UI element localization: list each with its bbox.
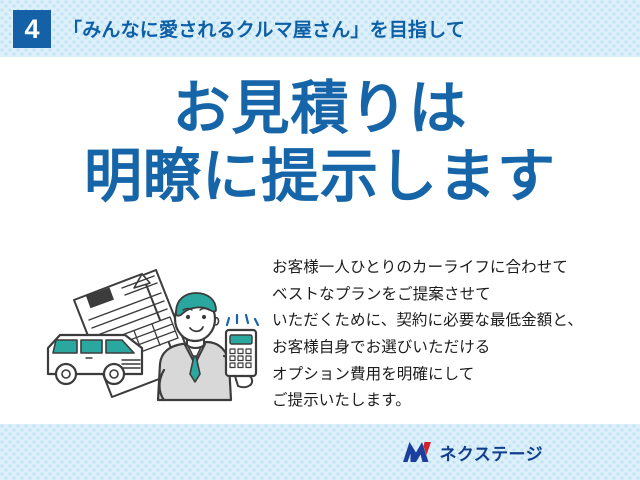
body-line-3: いただくために、契約に必要な最低金額と、 <box>272 308 632 335</box>
nextage-n-mark-icon <box>402 441 432 463</box>
sparkle-lines <box>227 315 258 325</box>
header-title: 「みんなに愛されるクルマ屋さん」を目指して <box>63 15 640 42</box>
body-copy: お客様一人ひとりのカーライフに合わせて ベストなプランをご提案させて いただくた… <box>272 255 632 415</box>
brand-logo-text: ネクステージ <box>439 440 543 465</box>
headline-line-1: お見積りは <box>0 78 640 140</box>
headline: お見積りは 明瞭に提示します <box>0 78 640 208</box>
headline-line-2: 明瞭に提示します <box>0 146 640 208</box>
section-number-badge: 4 <box>13 10 51 48</box>
body-line-4: お客様自身でお選びいただける <box>272 335 632 362</box>
salesman-figure <box>158 293 258 400</box>
body-line-2: ベストなプランをご提案させて <box>272 282 632 309</box>
body-line-1: お客様一人ひとりのカーライフに合わせて <box>272 255 632 282</box>
illustration-svg <box>30 252 280 417</box>
body-line-6: ご提示いたします。 <box>272 388 632 415</box>
header-bar: 4 「みんなに愛されるクルマ屋さん」を目指して <box>0 0 640 57</box>
illustration-salesman-estimate <box>30 252 280 417</box>
calculator-icon <box>226 330 256 376</box>
promo-poster: 4 「みんなに愛されるクルマ屋さん」を目指して お見積りは 明瞭に提示します <box>0 0 640 480</box>
footer-bar: ネクステージ <box>0 424 640 480</box>
brand-logo: ネクステージ <box>402 440 543 465</box>
body-line-5: オプション費用を明確にして <box>272 362 632 389</box>
